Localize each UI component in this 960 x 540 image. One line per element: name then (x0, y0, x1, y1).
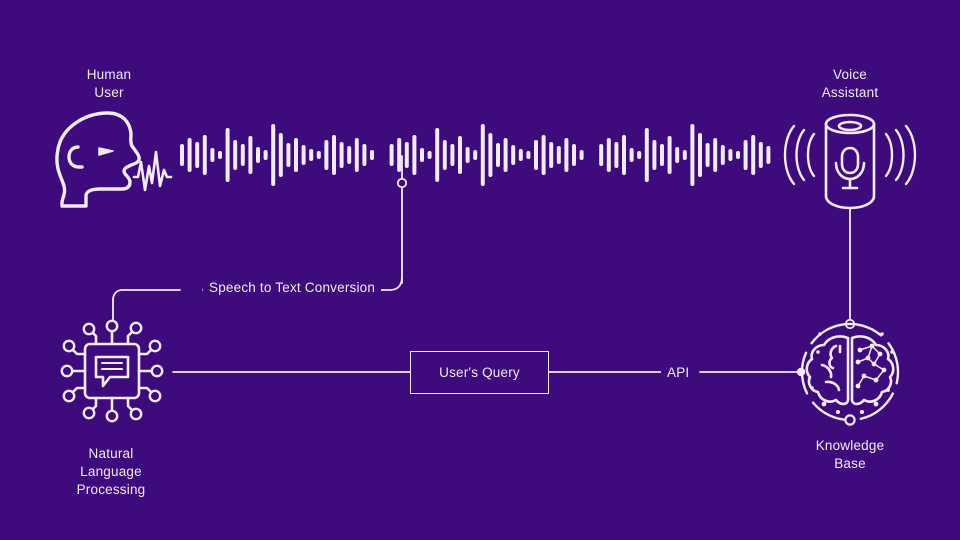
waveform-bar (362, 144, 366, 166)
waveform-bar (428, 151, 432, 159)
ai-chip-icon (71, 330, 153, 412)
sound-wave-left-icon (785, 126, 814, 184)
waveform-bar (713, 138, 717, 172)
waveform-bar (759, 142, 763, 168)
edge-label-speech-to-text: Speech to Text Conversion (203, 280, 381, 296)
waveform-bar (622, 135, 626, 175)
waveform-bar (390, 144, 394, 166)
connector-dot-waveform (398, 179, 406, 187)
waveform-bar (637, 151, 641, 159)
waveform-bar (317, 151, 321, 159)
waveform-bar (271, 124, 275, 186)
waveform-bar (458, 136, 462, 174)
waveform-bar (210, 148, 214, 162)
waveform-bar (660, 144, 664, 166)
waveform-bar (233, 140, 237, 170)
waveform-bar (652, 140, 656, 170)
waveform-bar (496, 143, 500, 167)
node-label-voice-assistant: Voice Assistant (800, 66, 900, 102)
waveform-bar (614, 142, 618, 168)
waveform-bar (450, 144, 454, 166)
waveform-bar (683, 150, 687, 160)
waveform-bar (721, 145, 725, 165)
waveform-bar (279, 133, 283, 177)
waveform-bar (706, 143, 710, 167)
waveform-bar (564, 138, 568, 172)
waveform-bar (675, 147, 679, 163)
diagram-canvas: Human User Voice Assistant Natural Langu… (0, 0, 960, 540)
waveform-bar (549, 142, 553, 168)
waveform-bar (526, 151, 530, 159)
waveform-bar (504, 138, 508, 172)
waveform-bar (309, 149, 313, 161)
waveform-bar (557, 146, 561, 164)
waveform-bar (188, 138, 192, 172)
waveform-bar (420, 148, 424, 162)
speech-to-text-connector (113, 156, 402, 330)
waveform-bar (736, 151, 740, 159)
waveform-bar (542, 135, 546, 175)
waveform-bar (572, 144, 576, 166)
node-label-knowledge-base: Knowledge Base (800, 437, 900, 473)
waveform-bar (744, 140, 748, 170)
waveform-bar (668, 136, 672, 174)
waveform-bar (435, 128, 439, 182)
waveform-bar (355, 138, 359, 172)
waveform-bar (256, 147, 260, 163)
waveform-bar (488, 133, 492, 177)
users-query-label: User's Query (439, 365, 520, 380)
waveform-bar (466, 147, 470, 163)
node-label-natural-language-processing: Natural Language Processing (61, 445, 161, 499)
waveform-bar (728, 149, 732, 161)
waveform-bar (698, 133, 702, 177)
waveform-bar (332, 135, 336, 175)
waveform-bar (511, 145, 515, 165)
waveform-bar (405, 142, 409, 168)
head-speaking-icon (57, 113, 139, 206)
waveform-bar (751, 135, 755, 175)
waveform-bar (286, 143, 290, 167)
waveform-bar (690, 124, 694, 186)
waveform-bar (203, 135, 207, 175)
waveform-bar (599, 144, 603, 166)
waveform-bar (397, 138, 401, 172)
users-query-box: User's Query (410, 351, 549, 394)
waveform-bar (519, 149, 523, 161)
waveform-bar (195, 142, 199, 168)
waveform-bar (481, 124, 485, 186)
waveform-bar (370, 150, 374, 160)
waveform-bar (248, 136, 252, 174)
waveform-bar (294, 138, 298, 172)
waveform-bar (580, 150, 584, 160)
waveform-bar (347, 146, 351, 164)
waveform-bar (241, 144, 245, 166)
waveform-bar (607, 138, 611, 172)
waveform-bar (180, 144, 184, 166)
waveform-bar (302, 145, 306, 165)
audio-waveform-icon (180, 124, 770, 186)
waveform-bar (630, 148, 634, 162)
edge-label-api: API (661, 365, 695, 381)
waveform-bar (412, 135, 416, 175)
waveform-bar (324, 140, 328, 170)
waveform-bar (340, 142, 344, 168)
waveform-bar (534, 140, 538, 170)
waveform-bar (264, 150, 268, 160)
sound-wave-right-icon (886, 126, 915, 184)
waveform-bar (645, 128, 649, 182)
waveform-bar (218, 151, 222, 159)
smart-speaker-icon (826, 115, 874, 208)
waveform-bar (226, 128, 230, 182)
node-label-human-user: Human User (59, 66, 159, 102)
brain-network-icon (794, 316, 905, 427)
waveform-bar (443, 140, 447, 170)
waveform-bar (473, 150, 477, 160)
waveform-bar (766, 146, 770, 164)
